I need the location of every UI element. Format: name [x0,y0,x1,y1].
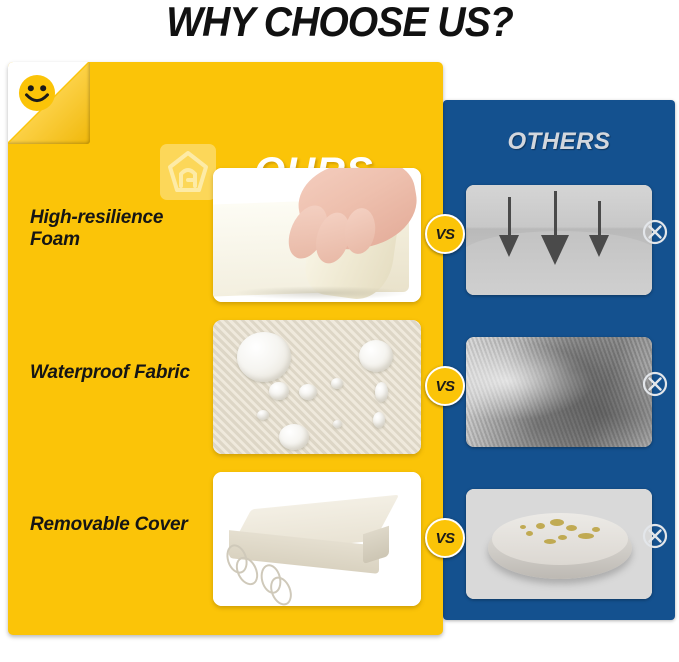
feature-label-3: Removable Cover [30,514,210,536]
vs-badge-row-2: VS [425,366,465,406]
others-image-row-1 [466,185,652,295]
brand-logo [160,144,216,200]
ours-image-row-3 [213,472,421,606]
others-image-row-3 [466,489,652,599]
circle-x-icon-row-3 [642,523,668,549]
others-panel: OTHERS [443,100,675,620]
down-arrow-icon [498,197,520,259]
others-heading: OTHERS [443,128,675,156]
smiley-face-icon [18,74,56,112]
circle-x-icon-row-2 [642,371,668,397]
vs-badge-row-3: VS [425,518,465,558]
vs-badge-row-1: VS [425,214,465,254]
ours-image-row-1 [213,168,421,302]
ours-panel: OURS High-resilience Foam Waterproof Fab… [8,62,443,635]
feature-label-1: High-resilience Foam [30,207,210,252]
house-pentagon-icon [167,150,209,194]
ours-image-row-2 [213,320,421,454]
down-arrow-icon [588,201,610,261]
down-arrow-icon [540,191,570,271]
page-title: WHY CHOOSE US? [24,0,655,46]
others-image-row-2 [466,337,652,447]
feature-label-2: Waterproof Fabric [30,362,210,384]
circle-x-icon-row-1 [642,219,668,245]
infographic-root: WHY CHOOSE US? OTHERS [0,0,679,662]
